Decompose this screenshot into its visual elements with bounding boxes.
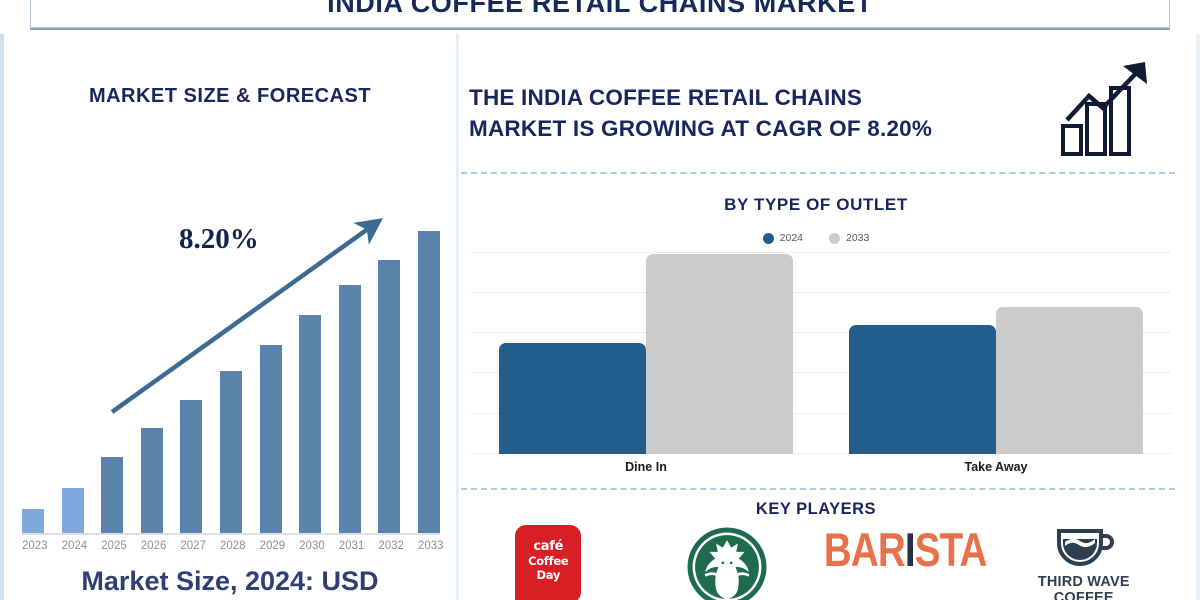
infographic-page: INDIA COFFEE RETAIL CHAINS MARKET MARKET… (0, 0, 1200, 600)
legend-item[interactable]: 2024 (763, 232, 803, 244)
cagr-statement-line-2: MARKET IS GROWING AT CAGR OF 8.20% (469, 113, 1069, 144)
ccd-line-3: Day (536, 568, 560, 582)
year-label: 2024 (62, 540, 84, 552)
year-label: 2030 (299, 540, 321, 552)
market-size-line-1: Market Size, 2024: USD (4, 564, 456, 598)
outlet-bar (646, 254, 793, 454)
legend-dot-icon (763, 233, 774, 244)
legend-label: 2033 (846, 232, 869, 244)
barista-logo: BARISTA (824, 525, 987, 575)
year-label: 2031 (339, 540, 361, 552)
market-size-forecast-chart (22, 215, 440, 535)
year-axis-labels: 2023202420252026202720282029203020312032… (22, 540, 440, 552)
key-players-logos: café Coffee Day (459, 525, 1173, 600)
chart-baseline (22, 533, 440, 535)
divider-bottom (461, 488, 1175, 490)
market-size-bar (220, 371, 242, 533)
market-size-bar (180, 400, 202, 533)
year-label: 2028 (220, 540, 242, 552)
market-size-bar (260, 345, 282, 533)
barista-text-a: BAR (824, 523, 905, 576)
outlet-category-label: Take Away (836, 460, 1156, 474)
legend-dot-icon (829, 233, 840, 244)
market-size-bar (141, 428, 163, 533)
twc-line-1: THIRD WAVE (1038, 574, 1130, 590)
outlet-chart-legend: 20242033 (459, 232, 1173, 244)
key-player-cafe-coffee-day: café Coffee Day (466, 525, 631, 600)
year-label: 2023 (22, 540, 44, 552)
market-size-bar (299, 315, 321, 533)
starbucks-logo (685, 525, 769, 600)
outlet-section-title: BY TYPE OF OUTLET (459, 195, 1173, 215)
bar-chart-growth-icon (1059, 58, 1155, 158)
market-size-panel: MARKET SIZE & FORECAST 8.20% 20232024202… (4, 40, 456, 600)
market-size-bar (339, 285, 361, 533)
outlet-bar (849, 325, 996, 454)
year-label: 2026 (141, 540, 163, 552)
cafe-coffee-day-logo: café Coffee Day (515, 525, 581, 600)
ccd-line-1: café (533, 540, 563, 554)
bar-group (486, 254, 806, 454)
market-size-bar (378, 260, 400, 533)
market-size-bar (22, 509, 44, 533)
market-size-heading: MARKET SIZE & FORECAST (4, 85, 456, 108)
bar-group (836, 307, 1156, 454)
year-label: 2027 (180, 540, 202, 552)
title-underline (30, 28, 1170, 30)
year-label: 2029 (260, 540, 282, 552)
divider-top (461, 172, 1175, 174)
outlet-bar (996, 307, 1143, 454)
market-size-bars (22, 223, 440, 533)
legend-label: 2024 (780, 232, 803, 244)
outlet-bars (471, 252, 1171, 454)
market-size-bar (101, 457, 123, 533)
barista-text-i: I (905, 523, 915, 576)
outlet-category-labels: Dine InTake Away (471, 460, 1171, 474)
key-player-starbucks (644, 525, 809, 600)
third-wave-coffee-logo (1053, 525, 1115, 571)
market-size-value: Market Size, 2024: USD ~615 Million (4, 564, 456, 600)
key-player-barista: BARISTA (823, 525, 988, 575)
outlet-category-label: Dine In (486, 460, 806, 474)
market-size-bar (62, 488, 84, 533)
barista-text-b: STA (915, 523, 987, 576)
year-label: 2025 (101, 540, 123, 552)
cagr-statement-line-1: THE INDIA COFFEE RETAIL CHAINS (469, 82, 1069, 113)
key-player-third-wave-coffee: THIRD WAVE COFFEE (1001, 525, 1166, 600)
by-type-of-outlet-chart (471, 252, 1171, 454)
page-title: INDIA COFFEE RETAIL CHAINS MARKET (327, 0, 873, 19)
right-rail-divider (1196, 34, 1200, 600)
key-players-title: KEY PLAYERS (459, 500, 1173, 519)
outlet-bar (499, 343, 646, 454)
year-label: 2032 (378, 540, 400, 552)
legend-item[interactable]: 2033 (829, 232, 869, 244)
year-label: 2033 (418, 540, 440, 552)
title-bar: INDIA COFFEE RETAIL CHAINS MARKET (30, 0, 1170, 28)
market-details-panel: THE INDIA COFFEE RETAIL CHAINS MARKET IS… (459, 40, 1196, 600)
market-size-bar (418, 231, 440, 533)
twc-line-2: COFFEE (1038, 590, 1130, 600)
third-wave-coffee-text: THIRD WAVE COFFEE (1038, 574, 1130, 600)
cagr-statement: THE INDIA COFFEE RETAIL CHAINS MARKET IS… (469, 82, 1069, 144)
ccd-line-2: Coffee (528, 554, 568, 568)
